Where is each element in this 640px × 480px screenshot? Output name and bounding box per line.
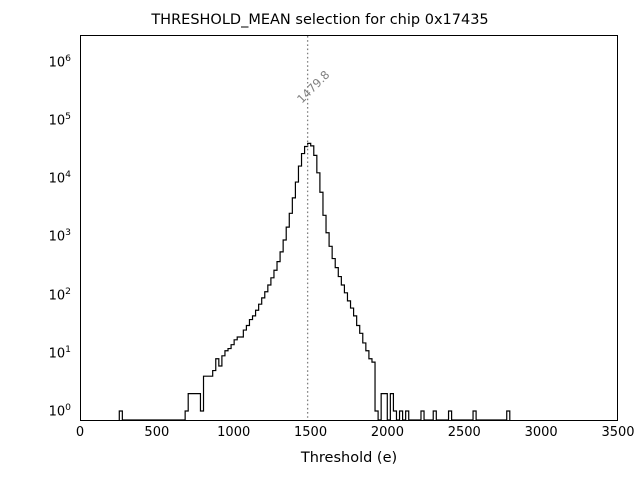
- y-tick-label: 101: [0, 346, 71, 361]
- x-tick-label: 0: [76, 425, 84, 440]
- y-tick-label: 100: [0, 404, 71, 419]
- y-tick-label: 106: [0, 55, 71, 70]
- x-tick-label: 3000: [525, 425, 558, 440]
- histogram-plot: [81, 36, 617, 420]
- y-tick-label: 105: [0, 113, 71, 128]
- x-axis-label: Threshold (e): [80, 450, 618, 466]
- x-tick-label: 1500: [294, 425, 327, 440]
- y-tick-label: 103: [0, 230, 71, 245]
- x-tick-label: 2500: [448, 425, 481, 440]
- histogram-step-line: [119, 143, 510, 420]
- y-tick-label: 102: [0, 288, 71, 303]
- histogram-figure: THRESHOLD_MEAN selection for chip 0x1743…: [0, 0, 640, 480]
- x-tick-label: 3500: [601, 425, 634, 440]
- x-tick-label: 500: [144, 425, 169, 440]
- plot-area: 1479.8: [80, 35, 618, 421]
- x-tick-label: 2000: [371, 425, 404, 440]
- x-tick-label: 1000: [217, 425, 250, 440]
- y-tick-label: 104: [0, 172, 71, 187]
- page-title: THRESHOLD_MEAN selection for chip 0x1743…: [0, 12, 640, 28]
- major-tick-marks: [81, 64, 617, 420]
